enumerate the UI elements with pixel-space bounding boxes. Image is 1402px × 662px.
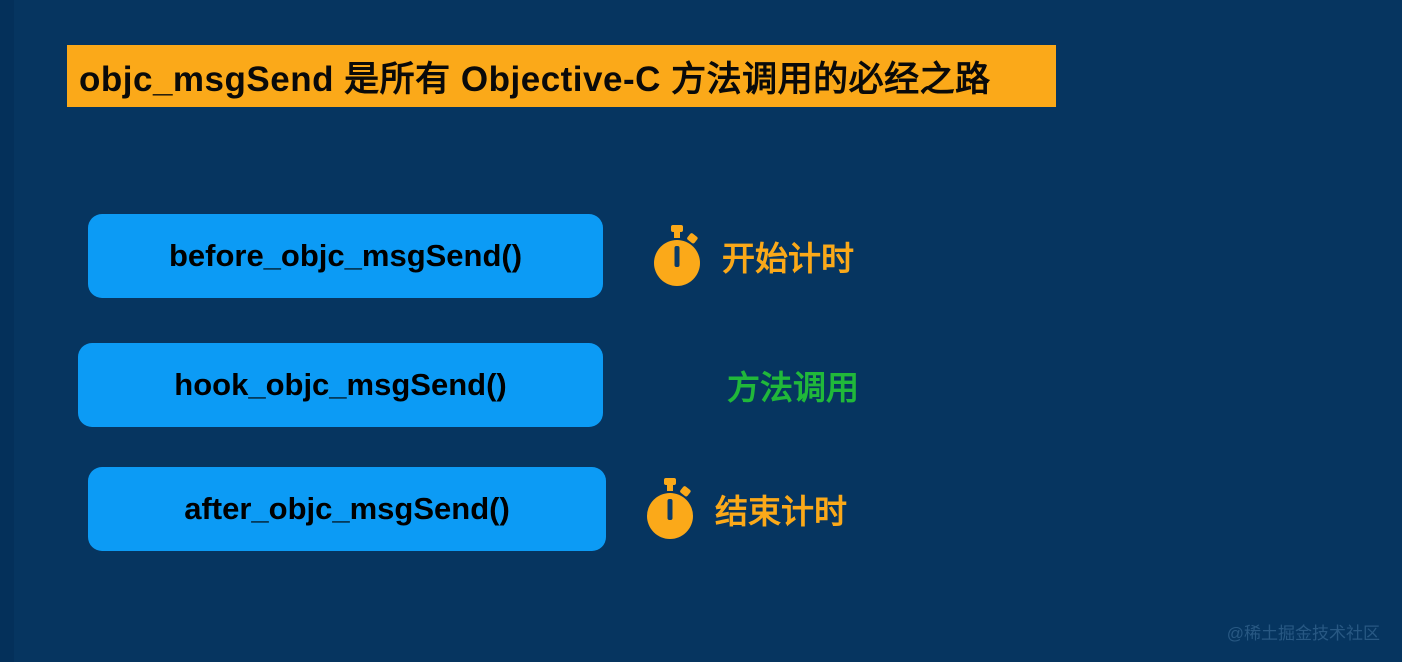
row-annotation: 开始计时 — [648, 214, 854, 298]
annotation-label: 方法调用 — [727, 361, 859, 409]
stopwatch-icon — [648, 225, 706, 287]
call-box-label: before_objc_msgSend() — [169, 238, 522, 274]
annotation-label: 结束计时 — [715, 485, 847, 533]
call-box-hook[interactable]: hook_objc_msgSend() — [78, 343, 603, 427]
flow-row: before_objc_msgSend() 开始计时 — [0, 214, 854, 298]
title-banner: objc_msgSend 是所有 Objective-C 方法调用的必经之路 — [67, 45, 1056, 107]
watermark: @稀土掘金技术社区 — [1227, 619, 1380, 644]
stopwatch-icon — [641, 478, 699, 540]
row-annotation: 结束计时 — [641, 467, 847, 551]
call-box-after[interactable]: after_objc_msgSend() — [88, 467, 606, 551]
row-annotation: 方法调用 — [727, 343, 859, 427]
flow-row: after_objc_msgSend() 结束计时 — [0, 467, 847, 551]
slide-canvas: objc_msgSend 是所有 Objective-C 方法调用的必经之路 b… — [0, 0, 1402, 662]
call-box-before[interactable]: before_objc_msgSend() — [88, 214, 603, 298]
call-box-label: hook_objc_msgSend() — [174, 367, 506, 403]
annotation-label: 开始计时 — [722, 232, 854, 280]
flow-row: hook_objc_msgSend() 方法调用 — [0, 343, 859, 427]
call-box-label: after_objc_msgSend() — [184, 491, 510, 527]
page-title: objc_msgSend 是所有 Objective-C 方法调用的必经之路 — [79, 51, 991, 102]
